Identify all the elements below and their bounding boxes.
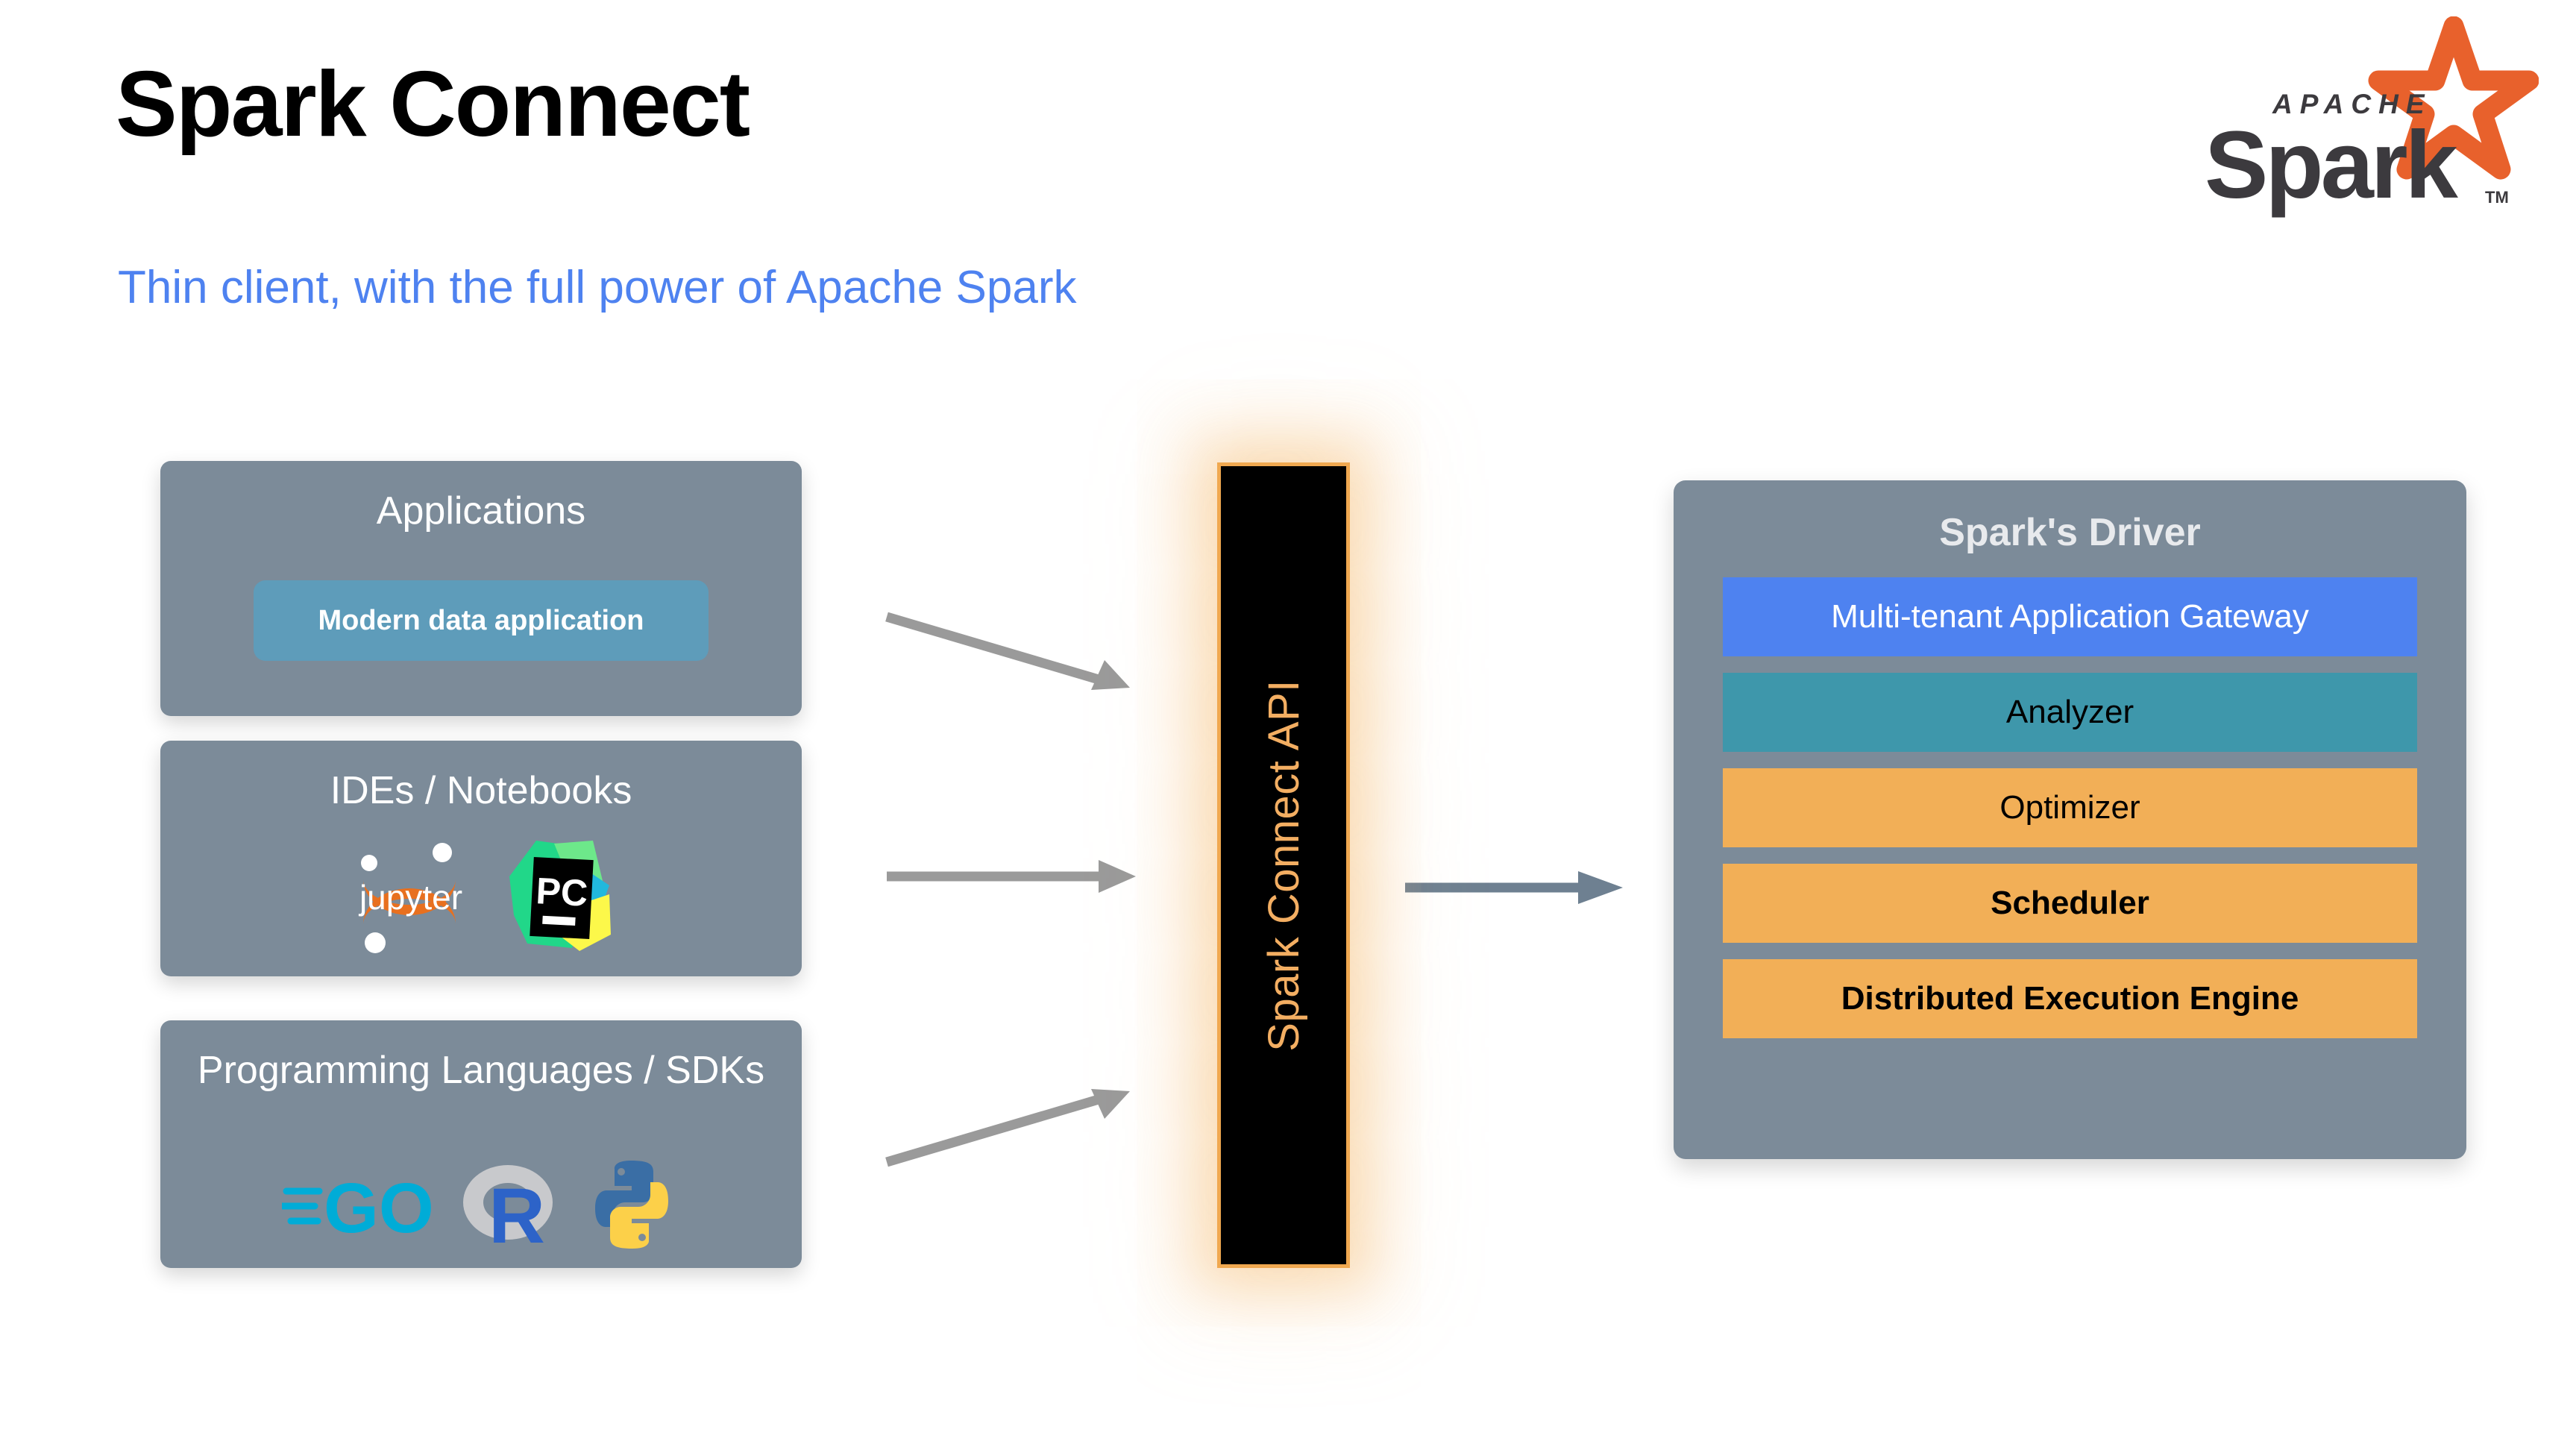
driver-row-gateway[interactable]: Multi-tenant Application Gateway: [1723, 577, 2417, 656]
arrow-applications-to-api: [884, 608, 1137, 705]
apache-spark-logo: APACHE Spark TM: [2166, 16, 2539, 218]
spark-wordmark: Spark: [2205, 112, 2459, 218]
go-logo: GO: [282, 1160, 442, 1249]
page-title: Spark Connect: [116, 56, 749, 153]
svg-text:GO: GO: [324, 1169, 434, 1248]
jupyter-logo: jupyter: [345, 836, 480, 955]
driver-row-analyzer[interactable]: Analyzer: [1723, 673, 2417, 752]
card-applications[interactable]: Applications Modern data application: [160, 461, 802, 716]
svg-text:jupyter: jupyter: [358, 878, 462, 917]
spark-connect-api-bar[interactable]: Spark Connect API: [1217, 462, 1350, 1268]
python-logo: [583, 1156, 680, 1253]
svg-text:PC: PC: [535, 870, 588, 914]
card-ides-notebooks[interactable]: IDEs / Notebooks jupyter: [160, 741, 802, 976]
card-ides-notebooks-title: IDEs / Notebooks: [160, 769, 802, 814]
svg-text:R: R: [489, 1173, 545, 1253]
spark-connect-api-label: Spark Connect API: [1259, 679, 1309, 1052]
driver-row-scheduler[interactable]: Scheduler: [1723, 864, 2417, 943]
ides-logo-row: jupyter PC: [160, 836, 802, 955]
card-programming-languages-title: Programming Languages / SDKs: [160, 1049, 802, 1093]
trademark-mark: TM: [2485, 188, 2509, 207]
slide-canvas: Spark Connect Thin client, with the full…: [0, 0, 2576, 1447]
arrow-api-to-driver: [1402, 861, 1626, 914]
card-applications-title: Applications: [160, 489, 802, 534]
driver-row-distributed-execution-engine[interactable]: Distributed Execution Engine: [1723, 959, 2417, 1038]
languages-logo-row: GO R: [160, 1156, 802, 1253]
r-logo: R: [459, 1156, 567, 1253]
spark-driver-panel[interactable]: Spark's Driver Multi-tenant Application …: [1674, 480, 2466, 1159]
driver-row-optimizer[interactable]: Optimizer: [1723, 768, 2417, 847]
arrow-languages-to-api: [884, 1074, 1137, 1171]
modern-data-application-chip[interactable]: Modern data application: [254, 580, 709, 661]
spark-driver-title: Spark's Driver: [1723, 510, 2417, 555]
card-programming-languages[interactable]: Programming Languages / SDKs GO: [160, 1020, 802, 1268]
pycharm-logo: PC: [505, 836, 617, 955]
page-subtitle: Thin client, with the full power of Apac…: [118, 263, 1076, 313]
arrow-ides-to-api: [884, 847, 1137, 906]
